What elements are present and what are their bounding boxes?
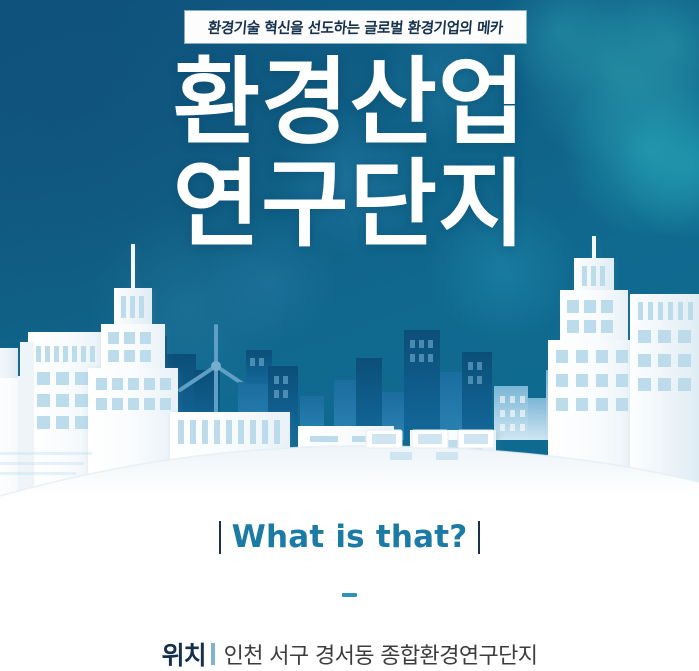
footer-address-text: 인천 서구 경서동 종합환경연구단지 [224,638,538,670]
caption-dash [0,584,699,602]
footer-location-label: 위치 [162,636,206,671]
caption-block: What is that? [0,519,699,559]
footer-location: 위치 인천 서구 경서동 종합환경연구단지 [0,636,699,671]
tagline-banner: 환경기술 혁신을 선도하는 글로벌 환경기업의 메카 [185,11,526,43]
caption-bar-left [219,521,221,554]
poster-canvas: 환경기술 혁신을 선도하는 글로벌 환경기업의 메카 환경산업 연구단지 Wha… [0,0,699,671]
tagline-text: 환경기술 혁신을 선도하는 글로벌 환경기업의 메카 [207,16,504,38]
footer-separator [211,643,215,665]
caption-bar-right [478,521,480,554]
dash-mark [342,593,357,597]
caption-text: What is that? [232,519,468,555]
